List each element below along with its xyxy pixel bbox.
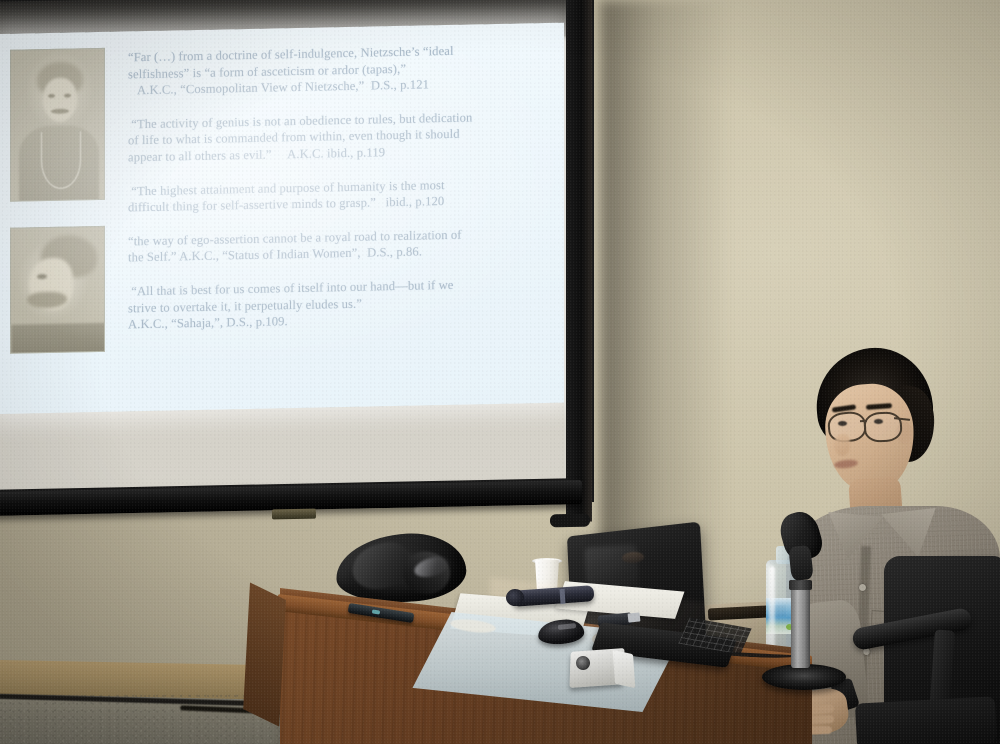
portrait-coat [11, 323, 105, 354]
screen-roller-end [550, 514, 590, 528]
projector-screen: “Far (…) from a doctrine of self-indulge… [0, 0, 594, 540]
digital-camera-stand [613, 650, 636, 688]
slide-body: “Far (…) from a doctrine of self-indulge… [0, 23, 564, 414]
slide-portrait-column [0, 32, 122, 414]
portrait-face [43, 77, 77, 122]
slide-quote-3: “The highest attainment and purpose of h… [128, 174, 550, 216]
slide-text-column: “Far (…) from a doctrine of self-indulge… [122, 23, 564, 412]
lecture-room-photo: “Far (…) from a doctrine of self-indulge… [0, 0, 1000, 744]
screen-pull-handle[interactable] [272, 509, 316, 520]
portrait-coomaraswamy [10, 48, 105, 202]
usb-connector [628, 612, 641, 622]
projected-slide: “Far (…) from a doctrine of self-indulge… [0, 23, 564, 414]
desk-microphone-collar [789, 580, 812, 590]
screen-right-edge [566, 0, 592, 522]
slide-quote-1: “Far (…) from a doctrine of self-indulge… [128, 41, 550, 99]
portrait-nietzsche [10, 226, 105, 354]
slide-quote-4: “the way of ego-assertion cannot be a ro… [128, 225, 550, 267]
presenter-nose [834, 434, 850, 456]
podium-left-face [243, 582, 286, 726]
shirt-button [859, 584, 866, 591]
screen-pull-loop[interactable] [282, 523, 312, 532]
handheld-microphone-band [559, 589, 565, 604]
eyeglasses-lens-right [863, 411, 903, 443]
office-chair-seat [855, 696, 997, 744]
desk-microphone-stem [791, 584, 810, 668]
slide-quote-5: “All that is best for us comes of itself… [128, 275, 550, 333]
slide-quote-2: “The activity of genius is not an obedie… [128, 108, 550, 166]
desk-microphone-head-lower [788, 545, 813, 581]
